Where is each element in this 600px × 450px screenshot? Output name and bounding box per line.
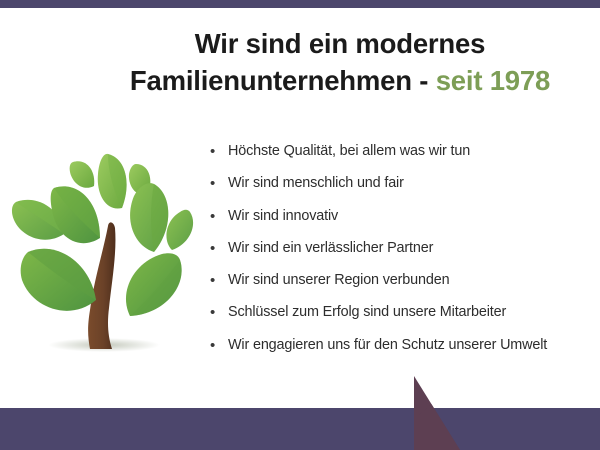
list-item: • Wir sind ein verlässlicher Partner: [210, 238, 600, 270]
list-item-label: Wir engagieren uns für den Schutz unsere…: [228, 335, 547, 353]
leaf-far-right: [166, 210, 193, 250]
bullet-icon: •: [210, 173, 228, 192]
list-item: • Schlüssel zum Erfolg sind unsere Mitar…: [210, 302, 600, 334]
list-item-label: Schlüssel zum Erfolg sind unsere Mitarbe…: [228, 302, 506, 320]
leaf-top-small: [70, 161, 95, 188]
list-item: • Wir sind innovativ: [210, 206, 600, 238]
list-item: • Wir engagieren uns für den Schutz unse…: [210, 335, 600, 367]
headline-line-1: Wir sind ein modernes: [195, 28, 485, 59]
list-item: • Wir sind menschlich und fair: [210, 173, 600, 205]
top-accent-bar: [0, 0, 600, 8]
list-item: • Wir sind unserer Region verbunden: [210, 270, 600, 302]
list-item-label: Wir sind unserer Region verbunden: [228, 270, 449, 288]
bullet-icon: •: [210, 141, 228, 160]
list-item-label: Wir sind menschlich und fair: [228, 173, 404, 191]
bullet-icon: •: [210, 335, 228, 354]
list-item-label: Höchste Qualität, bei allem was wir tun: [228, 141, 470, 159]
list-item-label: Wir sind ein verlässlicher Partner: [228, 238, 433, 256]
slide-canvas: Wir sind ein modernes Familienunternehme…: [0, 0, 600, 450]
headline-line-2-main: Familienunternehmen -: [130, 65, 436, 96]
list-item-label: Wir sind innovativ: [228, 206, 338, 224]
tree-illustration: [8, 140, 196, 365]
bullet-icon: •: [210, 302, 228, 321]
headline-accent: seit 1978: [436, 65, 550, 96]
bullet-icon: •: [210, 238, 228, 257]
page-title: Wir sind ein modernes Familienunternehme…: [100, 26, 580, 99]
list-item: • Höchste Qualität, bei allem was wir tu…: [210, 141, 600, 173]
headline-line-2: Familienunternehmen - seit 1978: [100, 63, 580, 100]
footer-bar: [0, 408, 600, 450]
benefits-list: • Höchste Qualität, bei allem was wir tu…: [210, 141, 600, 367]
bullet-icon: •: [210, 206, 228, 225]
bullet-icon: •: [210, 270, 228, 289]
